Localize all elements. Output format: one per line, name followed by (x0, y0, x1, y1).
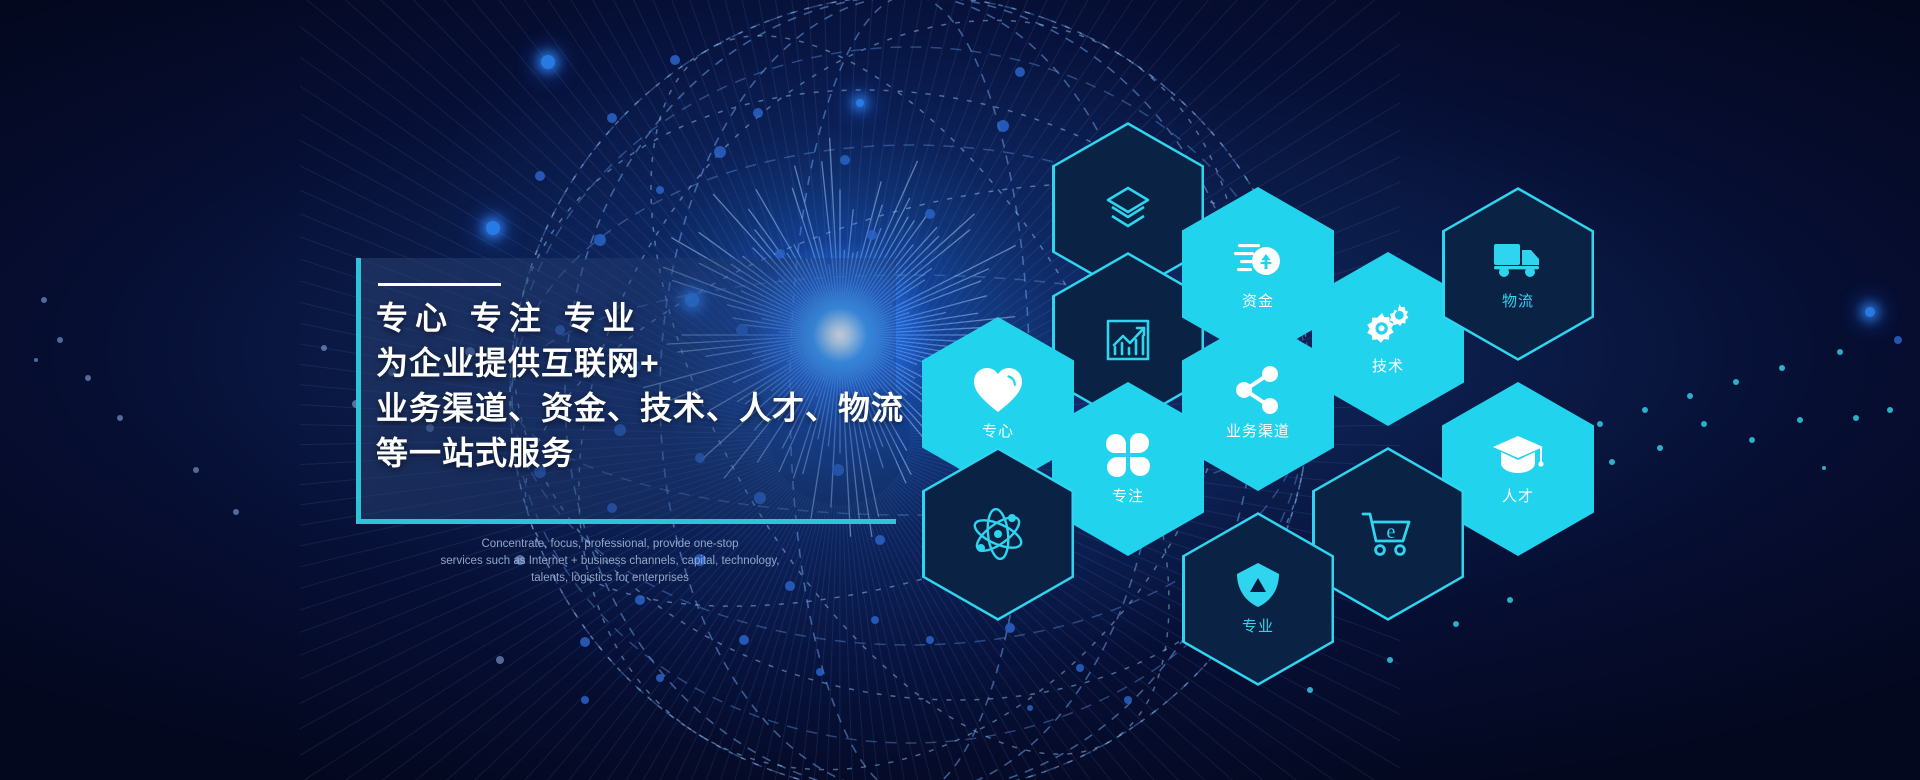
particle-dot (1124, 696, 1132, 704)
particle-dot (233, 509, 239, 515)
particle-dot (1015, 67, 1025, 77)
particle-dot (1027, 705, 1033, 711)
particle-dot (875, 535, 885, 545)
particle-dot (1853, 415, 1859, 421)
particle-dot (193, 467, 199, 473)
hex-tile-yewu[interactable]: 业务渠道 (1182, 317, 1334, 491)
particle-dot (1507, 597, 1513, 603)
particle-dot (1597, 421, 1603, 427)
hex-content: 专注 (1104, 432, 1152, 506)
particle-dot (486, 221, 500, 235)
hex-tile-zhuanye[interactable]: 专业 (1182, 512, 1334, 686)
particle-dot (1687, 393, 1693, 399)
hex-content: 业务渠道 (1226, 367, 1290, 441)
hex-label: 技术 (1372, 355, 1404, 376)
particle-dot (1076, 664, 1084, 672)
particle-dot (581, 696, 589, 704)
headline-rule (378, 283, 501, 286)
hex-label: 专业 (1242, 615, 1274, 636)
particle-dot (321, 345, 327, 351)
bar-chart-icon (1103, 316, 1153, 362)
headline-line-4: 等一站式服务 (376, 431, 956, 476)
particle-dot (670, 55, 680, 65)
particle-dot (926, 636, 934, 644)
hex-label: 专心 (982, 420, 1014, 441)
hex-label: 业务渠道 (1226, 420, 1290, 441)
banner-stage: 专心 专注 专业 为企业提供互联网+ 业务渠道、资金、技术、人才、物流 等一站式… (0, 0, 1920, 780)
particle-dot (85, 375, 91, 381)
headline-text: 专心 专注 专业 为企业提供互联网+ 业务渠道、资金、技术、人才、物流 等一站式… (376, 296, 956, 476)
atom-icon (970, 511, 1026, 557)
hex-content: 专业 (1235, 562, 1281, 636)
particle-dot (1642, 407, 1648, 413)
particle-dot (656, 186, 664, 194)
gears-icon (1363, 302, 1413, 348)
particle-dot (1887, 407, 1893, 413)
headline-line-2: 为企业提供互联网+ (376, 341, 956, 386)
particle-dot (117, 415, 123, 421)
particle-dot (1005, 623, 1015, 633)
subtitle-line-2: services such as Internet + business cha… (400, 553, 820, 570)
particle-dot (925, 209, 935, 219)
layers-icon (1102, 186, 1154, 232)
hex-content: 技术 (1363, 302, 1413, 376)
hex-label: 物流 (1502, 290, 1534, 311)
subtitle-line-1: Concentrate, focus, professional, provid… (400, 536, 820, 553)
particle-dot (1894, 336, 1902, 344)
svg-text:e: e (1387, 521, 1396, 543)
heart-icon (972, 367, 1024, 413)
particle-dot (840, 155, 850, 165)
particle-dot (1609, 459, 1615, 465)
hex-tile-wuliu[interactable]: 物流 (1442, 187, 1594, 361)
diamond-icon (1235, 562, 1281, 608)
particle-dot (607, 113, 617, 123)
hex-content (1103, 316, 1153, 362)
hex-tile-ecart[interactable]: e (1312, 447, 1464, 621)
hexagon-grid: 资金 技术 物流 专心 (0, 0, 1920, 780)
particle-dot (1749, 437, 1755, 443)
hex-label: 专注 (1112, 485, 1144, 506)
particle-dot (1779, 365, 1785, 371)
particle-dot (594, 234, 606, 246)
particle-dot (1387, 657, 1393, 663)
particle-dot (871, 616, 879, 624)
particle-dot (496, 656, 504, 664)
share-nodes-icon (1233, 367, 1283, 413)
particle-dot (656, 674, 664, 682)
particle-dot (1453, 621, 1459, 627)
hex-content: e (1361, 511, 1415, 557)
hex-label: 资金 (1242, 290, 1274, 311)
subtitle-line-3: talents, logistics for enterprises (400, 570, 820, 587)
shopping-cart-e-icon: e (1361, 511, 1415, 557)
subtitle-text: Concentrate, focus, professional, provid… (400, 536, 820, 587)
headline-line-1: 专心 专注 专业 (376, 296, 956, 341)
particle-dot (753, 108, 763, 118)
particle-dot (34, 358, 38, 362)
clover-icon (1104, 432, 1152, 478)
particle-dot (856, 99, 864, 107)
particle-dot (1657, 445, 1663, 451)
particle-dot (1797, 417, 1803, 423)
particle-dot (816, 668, 824, 676)
hex-content: 专心 (972, 367, 1024, 441)
particle-dot (635, 595, 645, 605)
particle-dot (1837, 349, 1843, 355)
particle-dot (535, 171, 545, 181)
particle-dot (739, 635, 749, 645)
hex-tile-jishu[interactable]: 技术 (1312, 252, 1464, 426)
hex-tile-rencai[interactable]: 人才 (1442, 382, 1594, 556)
particle-dot (867, 230, 877, 240)
hex-content (970, 511, 1026, 557)
yen-coin-icon (1232, 237, 1284, 283)
particle-dot (1865, 307, 1875, 317)
graduation-cap-icon (1491, 432, 1545, 478)
particle-dot (580, 637, 590, 647)
hex-content: 人才 (1491, 432, 1545, 506)
hex-content: 物流 (1492, 237, 1544, 311)
hex-tile-zhuanzhu[interactable]: 专注 (1052, 382, 1204, 556)
particle-dot (997, 120, 1009, 132)
headline-line-3: 业务渠道、资金、技术、人才、物流 (376, 386, 956, 431)
truck-icon (1492, 237, 1544, 283)
particle-dot (41, 297, 47, 303)
particle-dot (1822, 466, 1826, 470)
hex-content: 资金 (1232, 237, 1284, 311)
particle-dot (714, 146, 726, 158)
hex-content (1102, 186, 1154, 232)
hex-label: 人才 (1502, 485, 1534, 506)
particle-dot (1307, 687, 1313, 693)
particle-dot (57, 337, 63, 343)
particle-dot (1701, 421, 1707, 427)
particle-dot (1733, 379, 1739, 385)
particle-dot (541, 55, 555, 69)
